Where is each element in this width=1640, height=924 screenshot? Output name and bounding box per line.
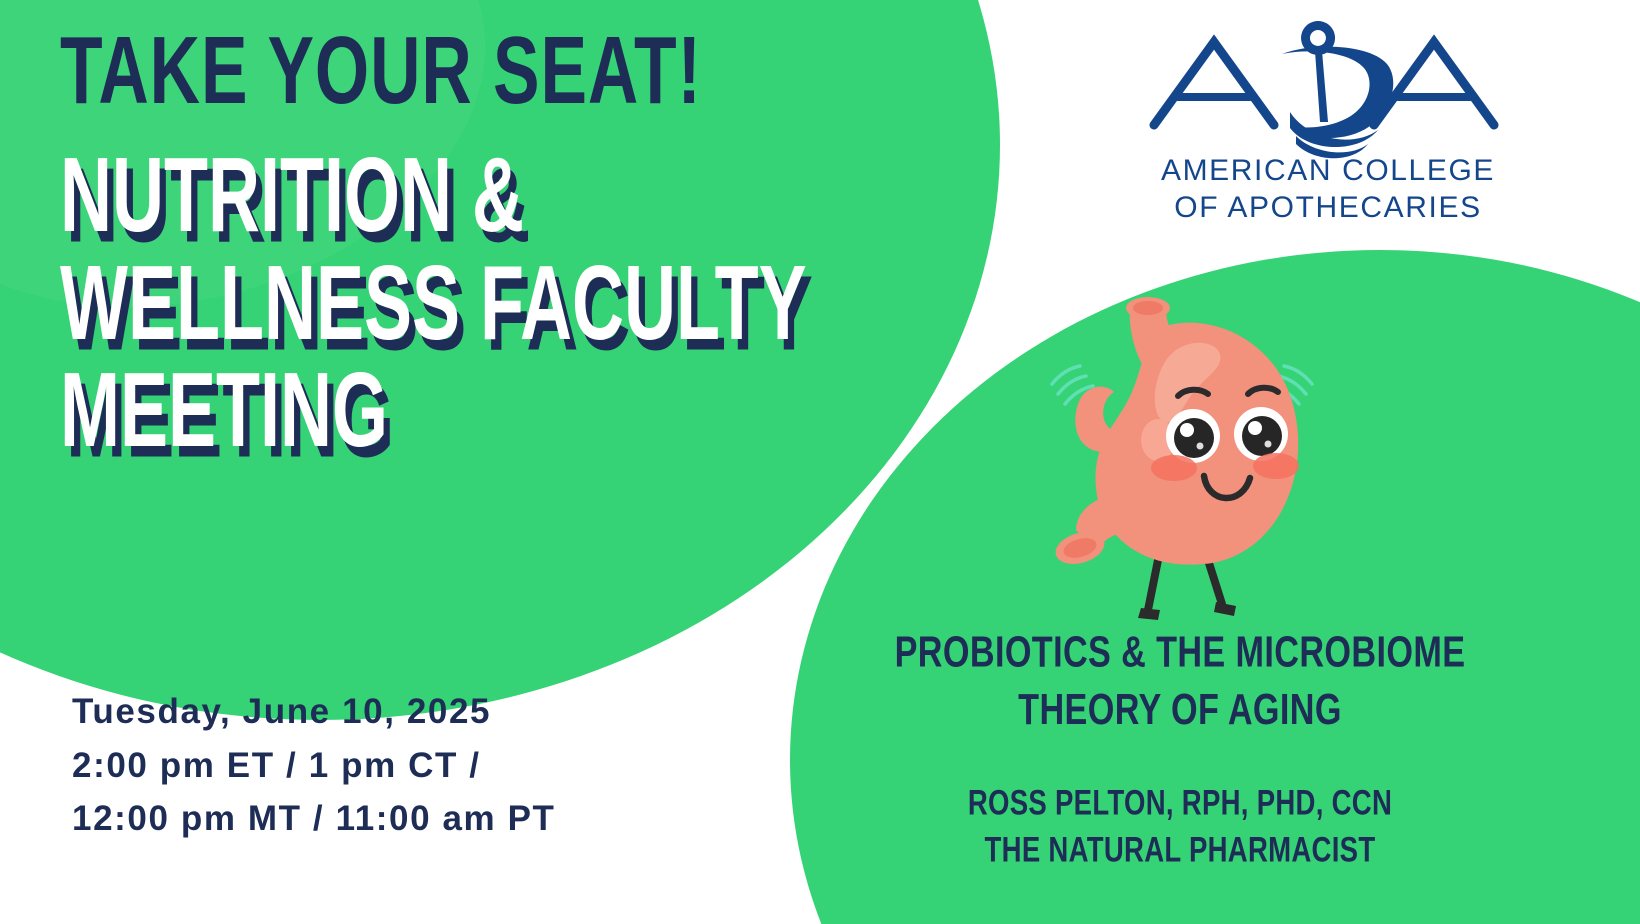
main-title-line-2: WELLNESS FACULTY — [60, 249, 870, 357]
speaker-name: ROSS PELTON, RPH, PHD, CCN — [848, 781, 1513, 828]
session-block: PROBIOTICS & THE MICROBIOME THEORY OF AG… — [830, 624, 1530, 859]
speaker-tagline: THE NATURAL PHARMACIST — [848, 828, 1513, 875]
session-title-line-2: THEORY OF AGING — [848, 681, 1513, 738]
datetime-line-1: Tuesday, June 10, 2025 — [72, 685, 556, 739]
event-datetime: Tuesday, June 10, 2025 2:00 pm ET / 1 pm… — [72, 685, 556, 846]
datetime-line-2: 2:00 pm ET / 1 pm CT / — [72, 739, 556, 793]
session-title-line-1: PROBIOTICS & THE MICROBIOME — [848, 624, 1513, 681]
event-promo-poster: AMERICAN COLLEGE OF APOTHECARIES TAKE YO… — [0, 0, 1640, 924]
aca-logo: AMERICAN COLLEGE OF APOTHECARIES — [1142, 18, 1512, 233]
headline-block: TAKE YOUR SEAT! NUTRITION & WELLNESS FAC… — [60, 26, 960, 386]
logo-name-line-1: AMERICAN COLLEGE — [1161, 154, 1495, 187]
speaker-credits: ROSS PELTON, RPH, PHD, CCN THE NATURAL P… — [848, 781, 1513, 876]
flexing-stomach-icon — [1008, 272, 1356, 624]
datetime-line-3: 12:00 pm MT / 11:00 am PT — [72, 792, 556, 846]
kicker-text: TAKE YOUR SEAT! — [60, 26, 897, 114]
main-title-line-3: MEETING — [60, 356, 870, 464]
main-title-line-1: NUTRITION & — [60, 141, 870, 249]
logo-name-line-2: OF APOTHECARIES — [1174, 191, 1481, 224]
session-title: PROBIOTICS & THE MICROBIOME THEORY OF AG… — [848, 624, 1513, 738]
main-title: NUTRITION & WELLNESS FACULTY MEETING — [60, 141, 870, 464]
